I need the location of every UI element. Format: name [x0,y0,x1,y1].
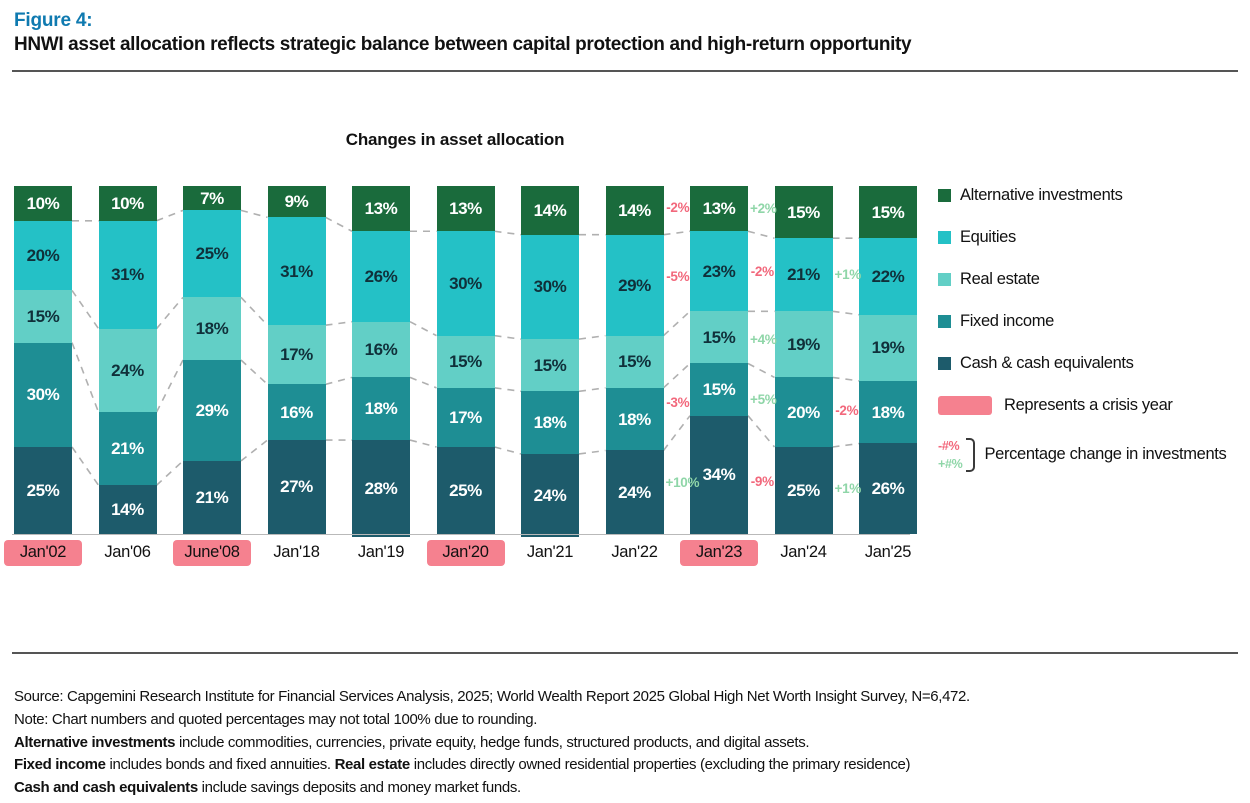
legend-swatch-icon [938,273,951,286]
percentage-change-label: -5% [666,269,691,284]
percentage-change-label: -2% [666,200,691,215]
footnote-term-fi: Fixed income [14,756,106,773]
chart-subtitle: Changes in asset allocation [0,130,910,150]
bar-june08[interactable]: 7%25%18%29%21% [183,186,241,534]
footnotes: Source: Capgemini Research Institute for… [14,686,1244,800]
legend-pct-label: Percentage change in investments [984,445,1226,464]
bar-segment[interactable]: 31% [99,221,157,329]
x-axis-label: Jan'22 [596,540,674,566]
x-axis-label: June'08 [173,540,251,566]
bar-jan06[interactable]: 10%31%24%21%14% [99,186,157,534]
bar-segment[interactable]: 30% [521,235,579,339]
footnote-fixed-income: Fixed income includes bonds and fixed an… [14,754,1244,777]
footnote-term-re: Real estate [335,756,410,773]
figure-page: Figure 4: HNWI asset allocation reflects… [0,0,1250,803]
bar-segment[interactable]: 23% [690,231,748,311]
percentage-change-label: +1% [835,481,860,496]
stacked-bar-chart: 10%20%15%30%25%10%31%24%21%14%7%25%18%29… [0,186,912,534]
x-axis-label: Jan'20 [427,540,505,566]
legend-pct-codes: -#% +#% [938,437,962,473]
bar-segment[interactable]: 14% [521,186,579,235]
x-axis-label: Jan'18 [258,540,336,566]
figure-label: Figure 4: [14,10,92,32]
x-axis-label: Jan'06 [89,540,167,566]
legend-swatch-icon [938,357,951,370]
footer-divider [12,652,1238,654]
x-axis-label: Jan'21 [511,540,589,566]
header-divider [12,70,1238,72]
bar-segment[interactable]: 28% [352,440,410,537]
footnote-text-fi: includes bonds and fixed annuities. [106,756,335,773]
bar-segment[interactable]: 30% [14,343,72,447]
legend-item-label: Fixed income [960,312,1054,331]
footnote-note: Note: Chart numbers and quoted percentag… [14,709,1244,732]
x-axis-label: Jan'25 [849,540,927,566]
bar-segment[interactable]: 15% [859,186,917,238]
legend-item[interactable]: Equities [938,228,1243,247]
legend-swatch-icon [938,189,951,202]
bar-segment[interactable]: 25% [183,210,241,297]
bar-segment[interactable]: 13% [690,186,748,231]
legend-swatch-icon [938,315,951,328]
bar-jan19[interactable]: 13%26%16%18%28% [352,186,410,534]
legend-pct-pos-code: +#% [938,455,962,473]
footnote-alternative-investments: Alternative investments include commodit… [14,732,1244,755]
bar-segment[interactable]: 24% [99,329,157,413]
bar-segment[interactable]: 26% [352,231,410,321]
legend-item-label: Real estate [960,270,1040,289]
bar-segment[interactable]: 18% [183,297,241,360]
bar-segment[interactable]: 18% [859,381,917,444]
crisis-swatch-icon [938,396,992,415]
bar-segment[interactable]: 27% [268,440,326,534]
bar-segment[interactable]: 25% [775,447,833,534]
bar-segment[interactable]: 15% [690,311,748,363]
percentage-change-label: -2% [835,403,860,418]
bar-segment[interactable]: 29% [183,360,241,461]
footnote-term-alt: Alternative investments [14,734,175,751]
x-axis-label: Jan'02 [4,540,82,566]
bar-segment[interactable]: 29% [606,235,664,336]
bar-segment[interactable]: 13% [352,186,410,231]
footnote-text-alt: include commodities, currencies, private… [175,734,809,751]
footnote-term-cash: Cash and cash equivalents [14,779,198,796]
legend-item-label: Equities [960,228,1016,247]
bar-jan02[interactable]: 10%20%15%30%25% [14,186,72,534]
bar-segment[interactable]: 15% [606,336,664,388]
bar-segment[interactable]: 17% [268,325,326,384]
bar-jan18[interactable]: 9%31%17%16%27% [268,186,326,534]
chart-legend: Alternative investmentsEquitiesReal esta… [938,186,1243,473]
bar-segment[interactable]: 15% [521,339,579,391]
bar-segment[interactable]: 26% [859,443,917,533]
bar-segment[interactable]: 15% [775,186,833,238]
footnote-text-cash: include savings deposits and money marke… [198,779,521,796]
bar-segment[interactable]: 17% [437,388,495,447]
legend-item[interactable]: Real estate [938,270,1243,289]
bar-segment[interactable]: 30% [437,231,495,335]
percentage-change-label: +10% [666,475,691,490]
bar-segment[interactable]: 14% [99,485,157,534]
bar-segment[interactable]: 31% [268,217,326,325]
legend-item[interactable]: Fixed income [938,312,1243,331]
bar-jan21[interactable]: 14%30%15%18%24% [521,186,579,534]
x-axis-label: Jan'24 [765,540,843,566]
percentage-change-label: -9% [750,474,775,489]
bar-jan25[interactable]: 15%22%19%18%26% [859,186,917,534]
footnote-source: Source: Capgemini Research Institute for… [14,686,1244,709]
x-axis-line [12,534,910,535]
bar-segment[interactable]: 20% [14,221,72,291]
bar-segment[interactable]: 10% [14,186,72,221]
bar-segment[interactable]: 18% [606,388,664,451]
bar-segment[interactable]: 19% [859,315,917,381]
bar-jan22[interactable]: 14%29%15%18%24% [606,186,664,534]
bar-segment[interactable]: 24% [606,450,664,534]
x-axis-label: Jan'19 [342,540,420,566]
bar-segment[interactable]: 15% [437,336,495,388]
bar-segment[interactable]: 15% [14,290,72,342]
legend-item[interactable]: Cash & cash equivalents [938,354,1243,373]
bar-segment[interactable]: 15% [690,363,748,415]
x-axis-labels: Jan'02Jan'06June'08Jan'18Jan'19Jan'20Jan… [0,540,912,570]
bar-segment[interactable]: 22% [859,238,917,315]
footnote-text-re: includes directly owned residential prop… [410,756,910,773]
bar-segment[interactable]: 18% [521,391,579,454]
percentage-change-label: +1% [835,267,860,282]
legend-item-label: Cash & cash equivalents [960,354,1134,373]
percentage-change-label: +5% [750,392,775,407]
page-title: HNWI asset allocation reflects strategic… [14,34,911,56]
legend-percentage-change: -#% +#% Percentage change in investments [938,437,1243,473]
bar-jan20[interactable]: 13%30%15%17%25% [437,186,495,534]
bar-segment[interactable]: 20% [775,377,833,447]
bar-segment[interactable]: 18% [352,377,410,440]
bar-segment[interactable]: 9% [268,186,326,217]
bar-segment[interactable]: 14% [606,186,664,235]
legend-crisis-label: Represents a crisis year [1004,396,1173,415]
bar-segment[interactable]: 13% [437,186,495,231]
legend-pct-neg-code: -#% [938,437,962,455]
legend-crisis-year: Represents a crisis year [938,396,1243,415]
legend-item-label: Alternative investments [960,186,1123,205]
legend-item[interactable]: Alternative investments [938,186,1243,205]
percentage-change-label: +4% [750,332,775,347]
bar-segment[interactable]: 21% [99,412,157,485]
brace-icon [966,438,975,472]
legend-series-list: Alternative investmentsEquitiesReal esta… [938,186,1243,373]
footnote-cash: Cash and cash equivalents include saving… [14,777,1244,800]
bar-segment[interactable]: 16% [268,384,326,440]
bar-segment[interactable]: 10% [99,186,157,221]
percentage-change-label: +2% [750,201,775,216]
bar-segment[interactable]: 16% [352,322,410,378]
bar-segment[interactable]: 25% [14,447,72,534]
bar-segment[interactable]: 21% [775,238,833,311]
percentage-change-label: -2% [750,264,775,279]
bar-segment[interactable]: 7% [183,186,241,210]
percentage-change-label: -3% [666,395,691,410]
bar-jan24[interactable]: 15%21%19%20%25% [775,186,833,534]
legend-swatch-icon [938,231,951,244]
bar-segment[interactable]: 24% [521,454,579,538]
bar-segment[interactable]: 25% [437,447,495,534]
bar-segment[interactable]: 19% [775,311,833,377]
x-axis-label: Jan'23 [680,540,758,566]
bar-segment[interactable]: 21% [183,461,241,534]
